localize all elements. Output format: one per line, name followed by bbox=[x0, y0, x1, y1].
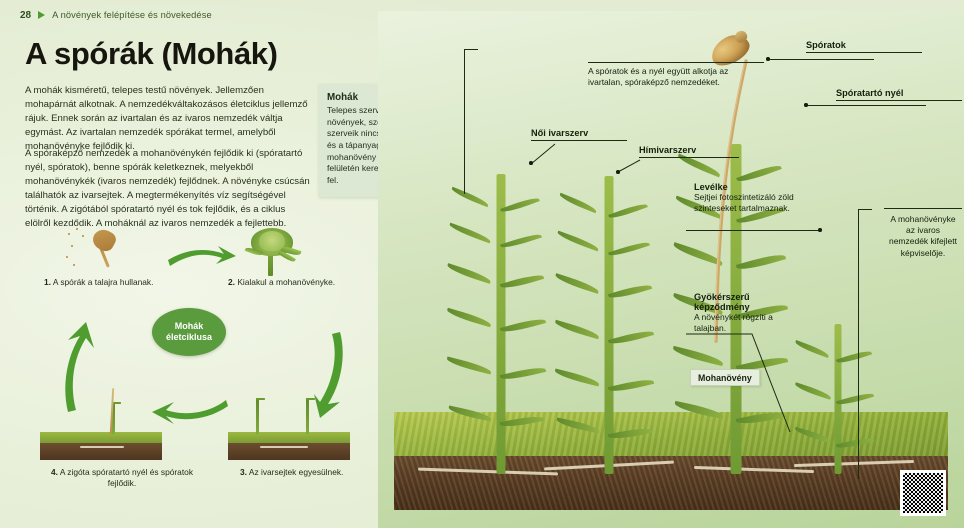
leader-male-organ bbox=[614, 158, 646, 180]
header-left: 28 A növények felépítése és növekedése bbox=[20, 8, 212, 22]
moss-plantlet-stage2-icon bbox=[245, 228, 299, 276]
textbook-spread: 28 A növények felépítése és növekedése A… bbox=[0, 0, 964, 528]
spore-capsule-stage1-icon bbox=[85, 230, 119, 268]
callout-leaflet: Levélke Sejtjei fotoszintetizáló zöld sz… bbox=[694, 182, 796, 214]
bracket-vertical-left bbox=[464, 49, 465, 194]
callout-leaflet-label: Levélke bbox=[694, 182, 796, 192]
leader-leaflet bbox=[686, 230, 820, 231]
anchor-dot-seta bbox=[804, 103, 808, 107]
anchor-dot-leaflet bbox=[818, 228, 822, 232]
lifecycle-badge: Mohák életciklusa bbox=[152, 308, 226, 356]
callout-rhizoid: Gyökérszerű képződmény A növénykét rögzí… bbox=[694, 292, 790, 334]
page-title: A spórák (Mohák) bbox=[25, 36, 278, 72]
lifecycle-badge-line1: Mohák bbox=[175, 321, 204, 332]
qr-code-pattern bbox=[903, 473, 943, 513]
soil-slab-stage4-icon bbox=[40, 432, 162, 460]
page-number-left: 28 bbox=[20, 10, 31, 21]
qr-code-icon[interactable] bbox=[900, 470, 946, 516]
callout-male-organ: Hímivarszerv bbox=[639, 145, 739, 158]
bracket-vertical-right bbox=[858, 209, 859, 479]
lifecycle-step-2-text: Kialakul a mohanövényke. bbox=[237, 277, 335, 287]
arrow-stage2-to-3-icon bbox=[300, 330, 356, 420]
moss-plant-right-partial bbox=[808, 324, 868, 474]
lifecycle-step-4-text: A zigóta spóratartó nyél és spóratok fej… bbox=[60, 467, 193, 488]
callout-seta-label: Spóratartó nyél bbox=[836, 88, 962, 101]
callout-rhizoid-desc: A növénykét rögzíti a talajban. bbox=[694, 312, 773, 333]
lifecycle-step-1-number: 1. bbox=[44, 277, 51, 287]
lifecycle-step-4-number: 4. bbox=[51, 467, 58, 477]
arrow-stage1-to-2-icon bbox=[166, 244, 236, 270]
arrow-stage3-to-4-icon bbox=[150, 398, 230, 426]
callout-sexual-note-text: A mohanövényke az ivaros nemzedék kifejl… bbox=[889, 214, 957, 258]
lifecycle-step-3-number: 3. bbox=[240, 467, 247, 477]
anchor-dot-sporangia bbox=[766, 57, 770, 61]
lifecycle-step-4: 4. A zigóta spóratartó nyél és spóratok … bbox=[42, 467, 202, 490]
lifecycle-badge-line2: életciklusa bbox=[166, 332, 212, 343]
body-paragraph-1: A mohák kisméretű, telepes testű növénye… bbox=[25, 84, 313, 154]
bracket-right-top-tick bbox=[858, 209, 872, 210]
tag-moss-plant: Mohanövény bbox=[690, 369, 760, 386]
lifecycle-step-3-text: Az ivarsejtek egyesülnek. bbox=[249, 467, 344, 477]
lifecycle-step-3: 3. Az ivarsejtek egyesülnek. bbox=[240, 467, 390, 478]
callout-sexual-note: A mohanövényke az ivaros nemzedék kifejl… bbox=[886, 214, 960, 259]
leader-asexual-note bbox=[588, 62, 764, 63]
callout-sporangia: Spóratok bbox=[806, 40, 922, 53]
callout-asexual-note-text: A spóratok és a nyél együtt alkotja az i… bbox=[588, 66, 728, 87]
soil-slab-stage3-icon bbox=[228, 432, 350, 460]
leader-female-organ bbox=[517, 142, 557, 168]
arrow-stage4-to-1-icon bbox=[52, 322, 108, 414]
triangle-right-icon bbox=[38, 11, 45, 19]
callout-sporangia-label: Spóratok bbox=[806, 40, 922, 53]
callout-asexual-note: A spóratok és a nyél együtt alkotja az i… bbox=[588, 66, 760, 88]
tag-moss-plant-label: Mohanövény bbox=[698, 373, 752, 383]
anchor-dot-male-organ bbox=[616, 170, 620, 174]
leader-sporangia bbox=[768, 59, 874, 60]
lifecycle-step-2: 2. Kialakul a mohanövényke. bbox=[228, 277, 378, 288]
callout-leaflet-desc: Sejtjei fotoszintetizáló zöld szinteseke… bbox=[694, 192, 794, 213]
lifecycle-step-2-number: 2. bbox=[228, 277, 235, 287]
leader-seta bbox=[806, 105, 926, 106]
moss-plant-left bbox=[466, 174, 536, 474]
moss-plant-middle bbox=[574, 176, 644, 474]
leader-sexual-note bbox=[884, 208, 962, 209]
header-title-left: A növények felépítése és növekedése bbox=[52, 10, 212, 20]
callout-female-organ: Női ivarszerv bbox=[531, 128, 627, 141]
callout-female-organ-label: Női ivarszerv bbox=[531, 128, 627, 141]
bracket-top-corner bbox=[464, 49, 478, 59]
anchor-dot-female-organ bbox=[529, 161, 533, 165]
lifecycle-step-1: 1. A spórák a talajra hullanak. bbox=[44, 277, 204, 288]
callout-male-organ-label: Hímivarszerv bbox=[639, 145, 739, 158]
callout-rhizoid-label: Gyökérszerű képződmény bbox=[694, 292, 790, 312]
lifecycle-step-1-text: A spórák a talajra hullanak. bbox=[53, 277, 154, 287]
callout-seta: Spóratartó nyél bbox=[836, 88, 962, 101]
